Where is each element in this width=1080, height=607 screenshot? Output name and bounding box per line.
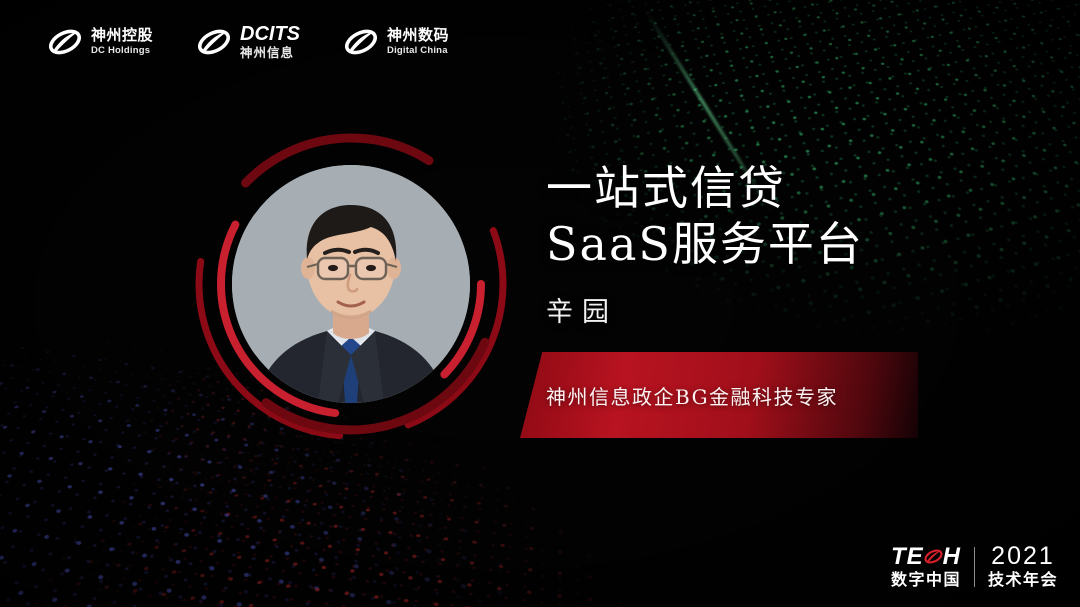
logo-dcits-cn: 神州信息 [240, 47, 300, 60]
speaker-photo [232, 165, 470, 403]
logo-digital-china-words: 神州数码 Digital China [387, 28, 449, 56]
event-logo-cn-right: 技术年会 [988, 573, 1058, 589]
event-logo-year: 2021 [991, 544, 1055, 569]
speaker-headshot-illustration [232, 165, 470, 403]
corporate-logo-bar: 神州控股 DC Holdings DCITS 神州信息 神州数码 Digital… [48, 24, 449, 60]
event-logo-left: TE H 数字中国 [891, 545, 961, 589]
speaker-portrait-zone [160, 120, 540, 510]
slide-canvas: 神州控股 DC Holdings DCITS 神州信息 神州数码 Digital… [0, 0, 1080, 607]
logo-dcits-en: DCITS [240, 24, 300, 44]
event-logo-divider [974, 547, 975, 587]
dcits-swoosh-icon [197, 27, 231, 57]
dcits-swoosh-icon [48, 27, 82, 57]
speaker-role-text: 神州信息政企BG金融科技专家 [546, 381, 838, 410]
logo-dcits: DCITS 神州信息 [197, 24, 300, 60]
logo-dc-holdings-en: DC Holdings [91, 46, 153, 56]
slide-title-line-1: 一站式信贷 [546, 160, 864, 216]
dcits-swoosh-icon [344, 27, 378, 57]
logo-dc-holdings: 神州控股 DC Holdings [48, 27, 153, 57]
event-logo: TE H 数字中国 2021 技术年会 [891, 544, 1058, 589]
title-text-block: 一站式信贷 SaaS服务平台 辛园 [546, 160, 864, 329]
logo-dcits-words: DCITS 神州信息 [240, 24, 300, 60]
logo-digital-china-en: Digital China [387, 46, 449, 56]
event-logo-tech-head: TE [891, 545, 924, 569]
slide-title-line-2: SaaS服务平台 [546, 216, 864, 272]
dcits-swoosh-icon [924, 548, 943, 565]
event-logo-tech-word: TE H [891, 545, 961, 569]
logo-dc-holdings-words: 神州控股 DC Holdings [91, 28, 153, 56]
logo-digital-china: 神州数码 Digital China [344, 27, 449, 57]
logo-digital-china-cn: 神州数码 [387, 28, 449, 43]
event-logo-tech-tail: H [943, 545, 961, 569]
logo-dc-holdings-cn: 神州控股 [91, 28, 153, 43]
speaker-name: 辛园 [546, 290, 864, 329]
event-logo-cn-left: 数字中国 [891, 573, 961, 589]
event-logo-right: 2021 技术年会 [988, 544, 1058, 589]
